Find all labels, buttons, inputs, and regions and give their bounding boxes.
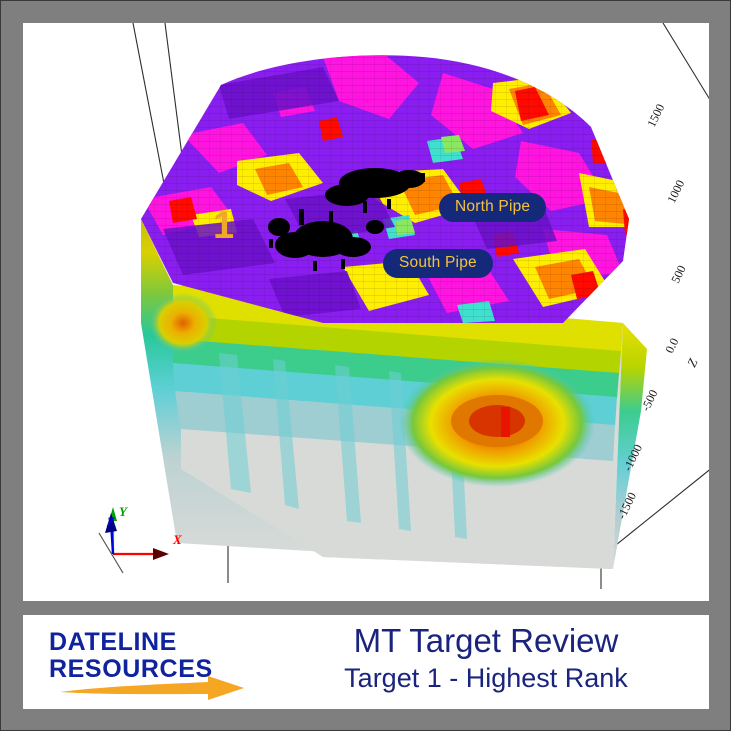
triad-x-arrow: [153, 548, 169, 560]
brand-line-1: DATELINE: [49, 629, 269, 656]
mt-model-figure[interactable]: North Pipe South Pipe 1 1500 1000 500 0.…: [23, 23, 709, 601]
target-number: 1: [213, 207, 234, 245]
slide-title-block: MT Target Review Target 1 - Highest Rank: [263, 621, 709, 695]
triad-label-x: X: [173, 532, 182, 548]
footer-bar: DATELINE RESOURCES MT Target Review Targ…: [23, 615, 709, 709]
label-south-pipe[interactable]: South Pipe: [383, 249, 493, 278]
orientation-triad: [83, 497, 203, 587]
footer-separator: [23, 601, 709, 616]
label-north-pipe[interactable]: North Pipe: [439, 193, 546, 222]
triad-label-y: Y: [119, 504, 127, 520]
slide-title: MT Target Review: [263, 621, 709, 661]
slide-root: North Pipe South Pipe 1 1500 1000 500 0.…: [0, 0, 731, 731]
logo-arrow-icon: [58, 675, 248, 701]
slide-subtitle: Target 1 - Highest Rank: [263, 661, 709, 695]
triad-label-z: Z: [107, 514, 115, 530]
